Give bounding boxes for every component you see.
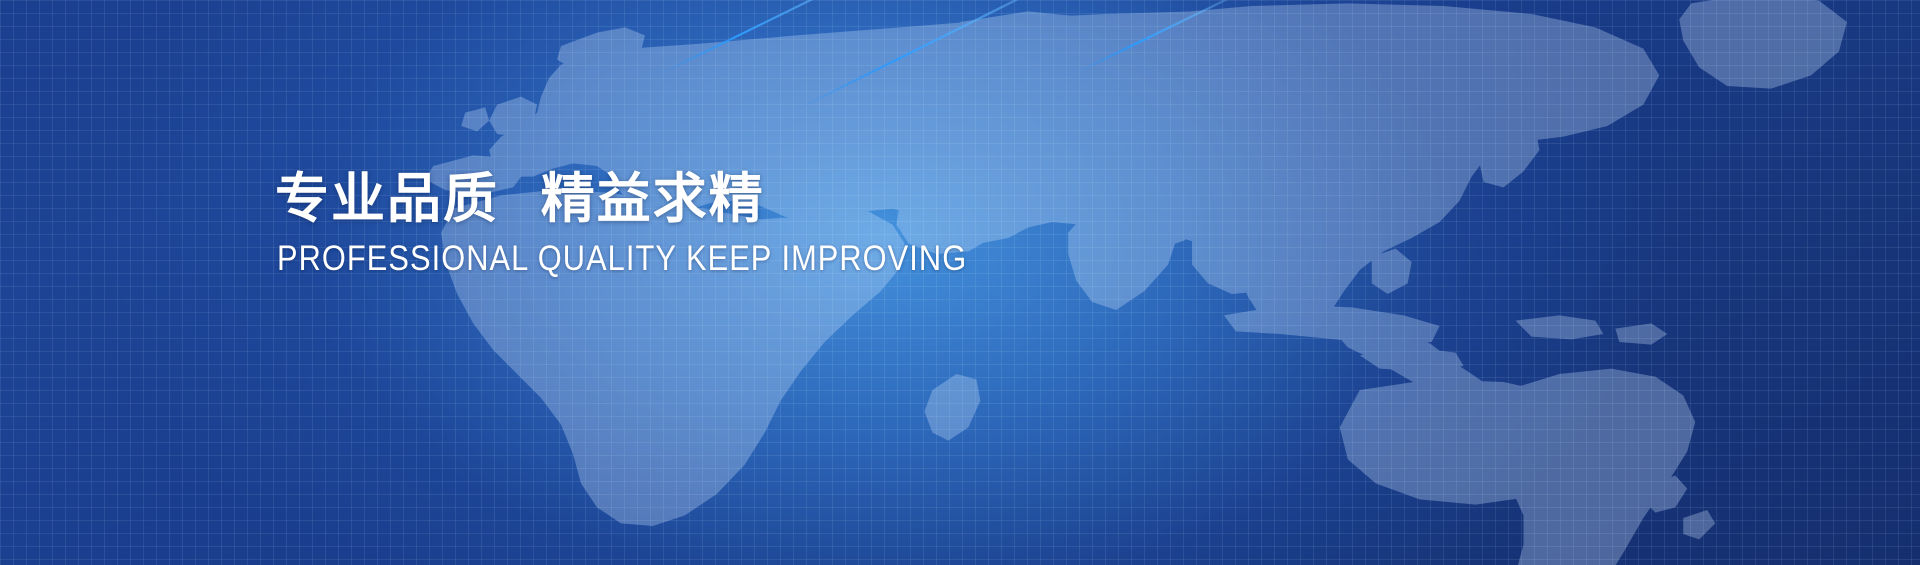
banner-subheadline: PROFESSIONAL QUALITY KEEP IMPROVING <box>277 240 1067 279</box>
diagonal-light-streaks <box>0 0 1920 565</box>
banner-headline: 专业品质 精益求精 <box>275 168 1175 230</box>
world-map-graphic <box>0 0 1920 565</box>
background-gradient <box>0 0 1920 565</box>
banner-copy: 专业品质 精益求精 PROFESSIONAL QUALITY KEEP IMPR… <box>275 168 1175 279</box>
hero-banner: 专业品质 精益求精 PROFESSIONAL QUALITY KEEP IMPR… <box>0 0 1920 565</box>
grid-mesh-overlay <box>0 0 1920 565</box>
